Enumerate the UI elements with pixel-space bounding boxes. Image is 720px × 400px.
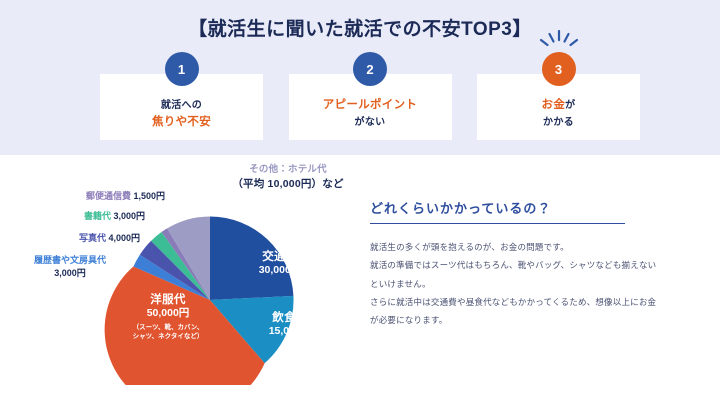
card-3-line-1-dark: が xyxy=(565,100,575,111)
rank-badge-3: 3 xyxy=(542,52,576,86)
explanation-line-5: が必要になります。 xyxy=(370,311,670,329)
infographic-page: 【就活生に聞いた就活での不安TOP3】 1 就活への 焦りや不安 2 アピールポ… xyxy=(0,0,720,400)
page-title: 【就活生に聞いた就活での不安TOP3】 xyxy=(0,14,720,41)
pie-svg xyxy=(95,215,325,385)
explanation-line-2: 就活の準備ではスーツ代はもちろん、靴やバッグ、シャツなども揃えない xyxy=(370,256,670,274)
rank-badge-2: 2 xyxy=(353,52,387,86)
explanation-body: 就活生の多くが頭を抱えるのが、お金の問題です。 就活の準備ではスーツ代はもちろん… xyxy=(370,238,670,329)
top3-card-1[interactable]: 1 就活への 焦りや不安 xyxy=(100,74,263,140)
top3-card-2[interactable]: 2 アピールポイント がない xyxy=(289,74,452,140)
explanation-line-1: 就活生の多くが頭を抱えるのが、お金の問題です。 xyxy=(370,238,670,256)
card-3-line-1-orange: お金 xyxy=(542,99,566,111)
explanation-heading: どれくらいかかっているの？ xyxy=(370,198,625,224)
callout-postage: 郵便通信費 1,500円 xyxy=(10,190,165,203)
explanation-line-3: といけません。 xyxy=(370,275,670,293)
other-slice-callout: その他：ホテル代 （平均 10,000円）など xyxy=(188,163,388,193)
expense-pie-chart: 交通費 30,000円 飲食代 15,000円 洋服代 50,000円 （スーツ… xyxy=(95,215,325,385)
explanation-line-4: さらに就活中は交通費や昼食代などもかかってくるため、想像以上にお金 xyxy=(370,293,670,311)
top3-card-list: 1 就活への 焦りや不安 2 アピールポイント がない xyxy=(100,74,640,140)
card-3-line-1: お金が xyxy=(477,96,640,112)
card-1-line-1: 就活への xyxy=(100,96,263,111)
card-3-line-2: かかる xyxy=(477,113,640,128)
top3-card-3[interactable]: 3 お金が かかる xyxy=(477,74,640,140)
card-2-line-2: がない xyxy=(289,113,452,128)
callout-postage-value: 1,500円 xyxy=(133,191,165,201)
other-slice-callout-line-2: （平均 10,000円）など xyxy=(188,177,388,193)
other-slice-callout-line-1: その他：ホテル代 xyxy=(188,163,388,177)
explanation-block: どれくらいかかっているの？ 就活生の多くが頭を抱えるのが、お金の問題です。 就活… xyxy=(370,198,670,329)
pie-slice-transport[interactable] xyxy=(210,216,293,300)
rank-badge-1: 1 xyxy=(165,52,199,86)
card-2-line-1: アピールポイント xyxy=(289,96,452,112)
card-1-line-2: 焦りや不安 xyxy=(100,113,263,129)
callout-postage-name: 郵便通信費 xyxy=(86,191,131,201)
